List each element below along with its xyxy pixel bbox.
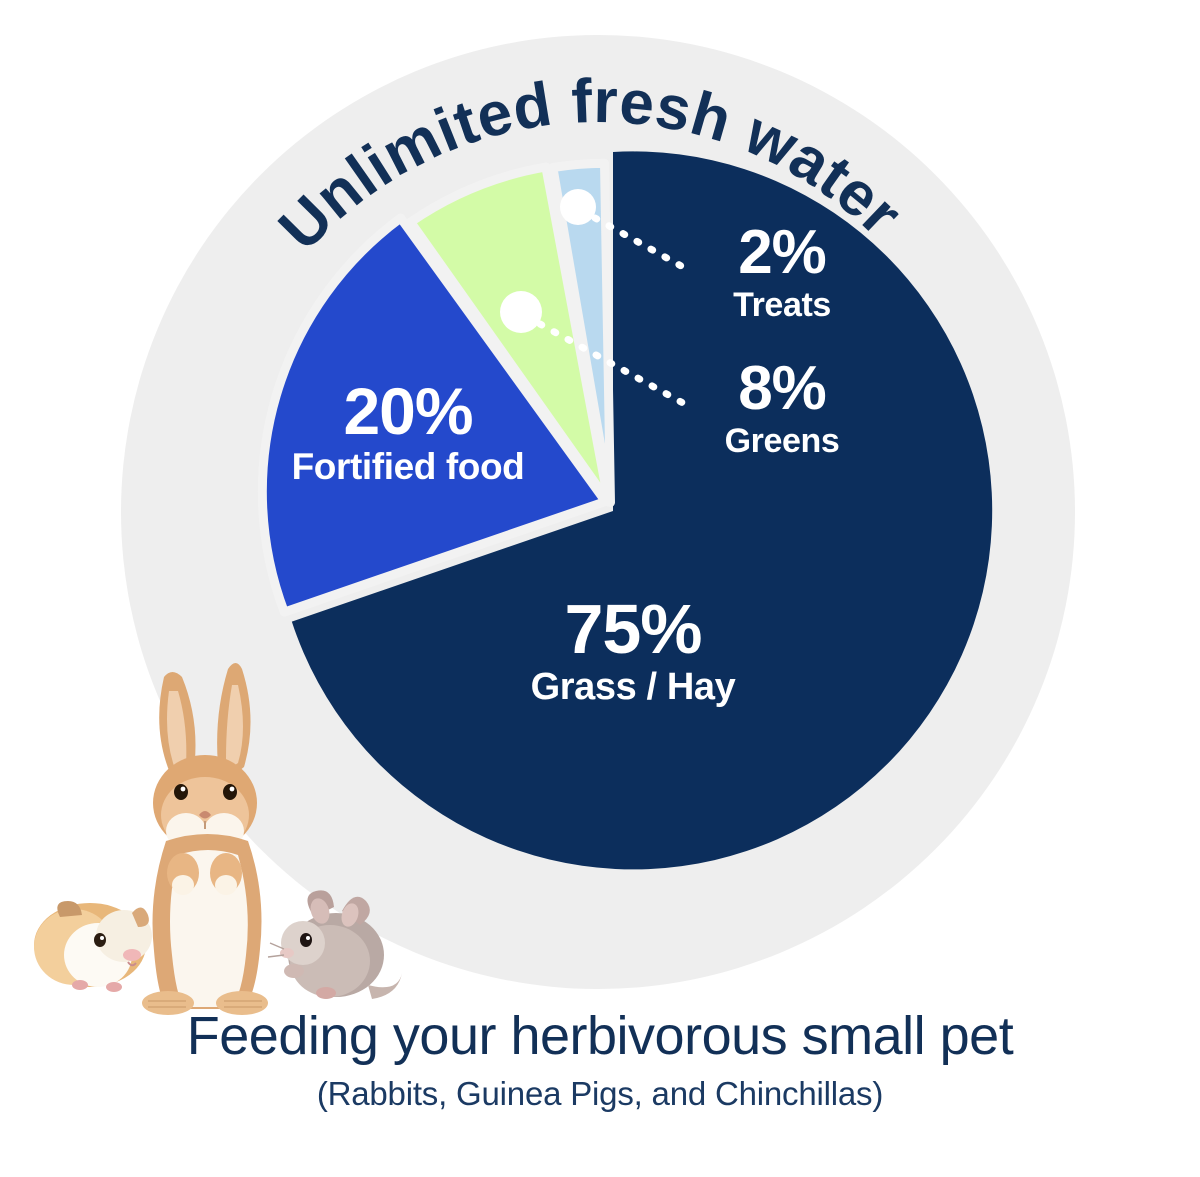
greens-percent: 8% — [672, 358, 892, 420]
grass-name: Grass / Hay — [468, 668, 798, 706]
slice-label-treats: 2% Treats — [672, 222, 892, 322]
slice-label-fortified-food: 20% Fortified food — [248, 378, 568, 485]
guinea-pig-illustration — [34, 901, 152, 992]
caption-main: Feeding your herbivorous small pet — [0, 1008, 1200, 1065]
slice-label-grass-hay: 75% Grass / Hay — [468, 594, 798, 706]
treats-name: Treats — [672, 288, 892, 322]
caption-block: Feeding your herbivorous small pet (Rabb… — [0, 1008, 1200, 1113]
caption-sub: (Rabbits, Guinea Pigs, and Chinchillas) — [0, 1075, 1200, 1113]
grass-percent: 75% — [468, 594, 798, 664]
rabbit-illustration — [142, 663, 268, 1015]
greens-name: Greens — [672, 424, 892, 458]
slice-label-greens: 8% Greens — [672, 358, 892, 458]
infographic-root: Unlimited fresh water 2% Treats 8% Green… — [0, 0, 1200, 1177]
animal-photo-group — [28, 655, 408, 1015]
treats-percent: 2% — [672, 222, 892, 284]
pie-chart: Unlimited fresh water 2% Treats 8% Green… — [0, 0, 1200, 1000]
chinchilla-illustration — [268, 890, 402, 999]
food-percent: 20% — [248, 378, 568, 444]
food-name: Fortified food — [248, 448, 568, 485]
